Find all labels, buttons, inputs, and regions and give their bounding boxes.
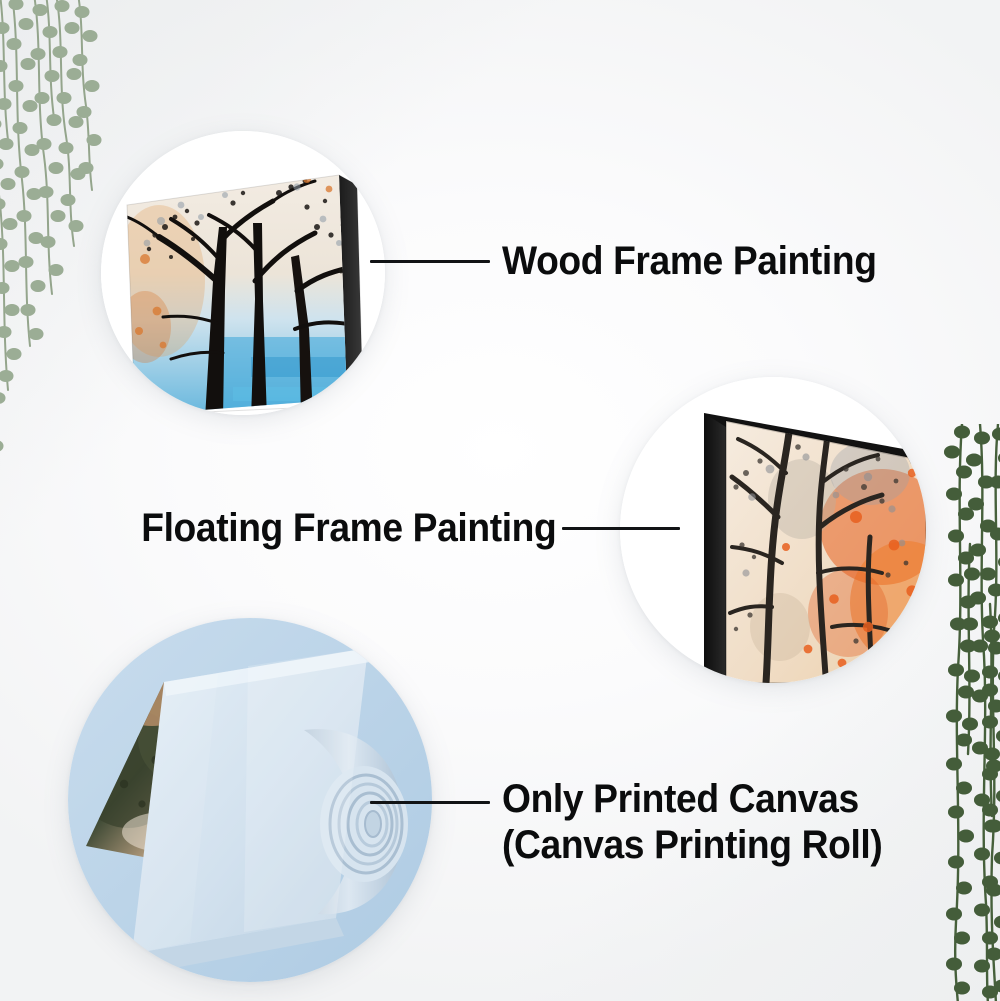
infographic-canvas: Wood Frame Painting <box>0 0 1000 1001</box>
hanging-vine-left <box>0 0 106 494</box>
label-wood-frame: Wood Frame Painting <box>502 238 877 284</box>
label-printed-canvas: Only Printed Canvas (Canvas Printing Rol… <box>502 776 882 868</box>
hanging-vine-right <box>944 424 1000 1001</box>
connector-floating-frame <box>562 527 680 530</box>
wood-frame-photo <box>101 131 385 415</box>
floating-frame-photo <box>620 377 926 683</box>
label-floating-frame: Floating Frame Painting <box>141 505 556 551</box>
connector-printed-canvas <box>370 801 490 804</box>
connector-wood-frame <box>370 260 490 263</box>
printed-canvas-photo <box>68 618 432 982</box>
